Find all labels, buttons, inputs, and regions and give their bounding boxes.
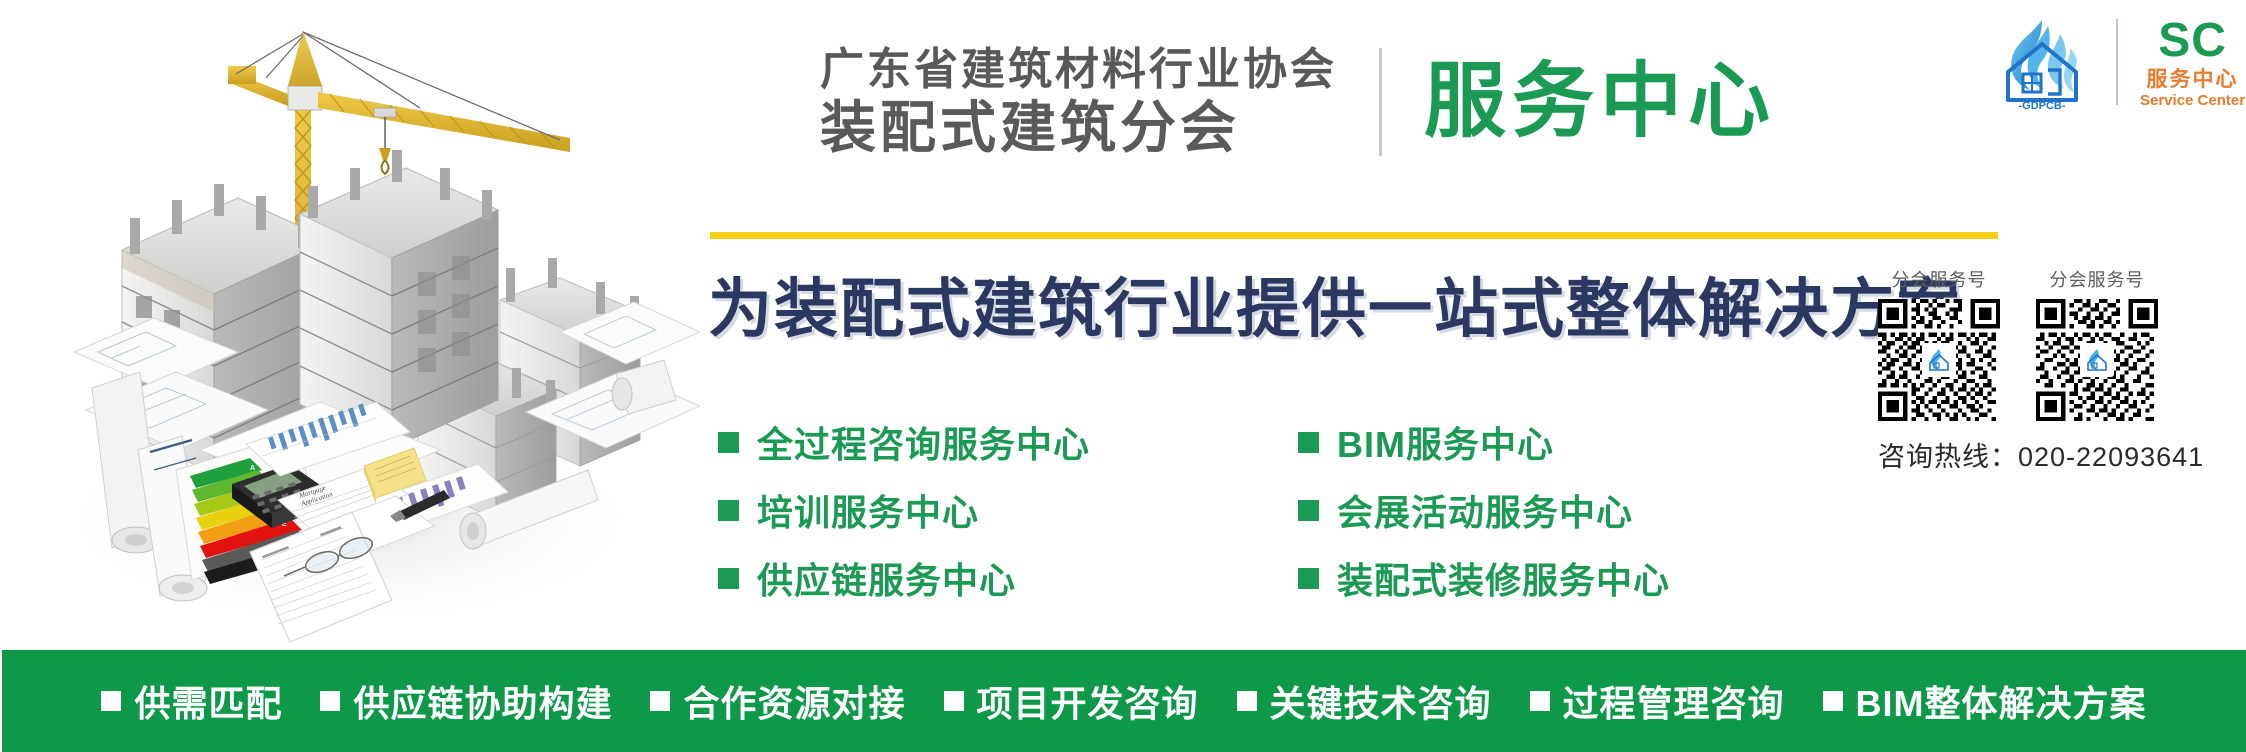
gdpcb-house-flame-logo-icon: -GDPCB-	[1990, 14, 2094, 110]
gdpcb-wordmark: -GDPCB-	[2018, 100, 2065, 110]
square-bullet-icon	[1530, 691, 1550, 711]
service-item-label: 培训服务中心	[757, 484, 979, 536]
square-bullet-icon	[718, 432, 739, 453]
qr-code-row: 分会服务号	[1878, 266, 2218, 421]
footer-item-label: 供应链协助构建	[353, 675, 612, 727]
promo-banner: AB CD EF GH	[0, 0, 2246, 752]
sc-letters: SC	[2158, 17, 2227, 65]
square-bullet-icon	[1823, 691, 1843, 711]
footer-item-label: 关键技术咨询	[1270, 675, 1492, 727]
footer-item[interactable]: 合作资源对接	[650, 675, 905, 727]
footer-item[interactable]: BIM整体解决方案	[1823, 675, 2147, 727]
qr-center-logo-icon	[2080, 343, 2114, 377]
service-center-heading: 服务中心	[1424, 61, 1776, 143]
footer-item-label: 过程管理咨询	[1563, 675, 1785, 727]
association-name: 广东省建筑材料行业协会	[820, 48, 1337, 92]
footer-item[interactable]: 项目开发咨询	[944, 675, 1199, 727]
service-center-list: 全过程咨询服务中心 培训服务中心 供应链服务中心 BIM服务中心 会展活动服务中…	[718, 408, 1718, 612]
square-bullet-icon	[101, 691, 121, 711]
footer-item[interactable]: 过程管理咨询	[1530, 675, 1785, 727]
square-bullet-icon	[1298, 568, 1319, 589]
square-bullet-icon	[1237, 691, 1257, 711]
square-bullet-icon	[718, 568, 739, 589]
square-bullet-icon	[320, 691, 340, 711]
service-item[interactable]: 培训服务中心	[718, 476, 1298, 544]
title-vertical-divider	[1379, 48, 1382, 156]
sc-english-label: Service Center	[2140, 93, 2245, 108]
qr-code-image-1[interactable]	[1878, 299, 2000, 421]
square-bullet-icon	[650, 691, 670, 711]
gold-divider-rule	[710, 232, 1998, 239]
footer-services-bar: 供需匹配 供应链协助构建 合作资源对接 项目开发咨询 关键技术咨询 过程管理咨询	[2, 650, 2246, 752]
service-item[interactable]: BIM服务中心	[1298, 408, 1718, 476]
qr-contact-block: 分会服务号	[1878, 266, 2218, 474]
logo-vertical-divider	[2116, 19, 2118, 105]
logo-lockup: -GDPCB- SC 服务中心 Service Center	[1990, 14, 2245, 110]
service-item[interactable]: 全过程咨询服务中心	[718, 408, 1298, 476]
service-column-left: 全过程咨询服务中心 培训服务中心 供应链服务中心	[718, 408, 1298, 612]
footer-item[interactable]: 供应链协助构建	[320, 675, 612, 727]
qr-code-cell[interactable]: 分会服务号	[1878, 266, 2000, 421]
service-item[interactable]: 装配式装修服务中心	[1298, 544, 1718, 612]
service-column-right: BIM服务中心 会展活动服务中心 装配式装修服务中心	[1298, 408, 1718, 612]
service-item-label: BIM服务中心	[1337, 416, 1554, 468]
qr-caption: 分会服务号	[1892, 266, 1987, 292]
service-item[interactable]: 供应链服务中心	[718, 544, 1298, 612]
square-bullet-icon	[718, 500, 739, 521]
footer-item[interactable]: 供需匹配	[101, 675, 282, 727]
association-title-stack: 广东省建筑材料行业协会 装配式建筑分会	[820, 48, 1337, 156]
qr-code-image-2[interactable]	[2036, 299, 2158, 421]
footer-item[interactable]: 关键技术咨询	[1237, 675, 1492, 727]
qr-caption: 分会服务号	[2050, 266, 2145, 292]
service-item[interactable]: 会展活动服务中心	[1298, 476, 1718, 544]
branch-name: 装配式建筑分会	[820, 100, 1337, 156]
svg-text:A: A	[250, 465, 255, 472]
footer-item-label: BIM整体解决方案	[1856, 675, 2147, 727]
footer-item-label: 合作资源对接	[683, 675, 905, 727]
square-bullet-icon	[944, 691, 964, 711]
construction-illustration: AB CD EF GH	[0, 0, 700, 650]
service-item-label: 全过程咨询服务中心	[757, 416, 1090, 468]
footer-item-label: 供需匹配	[134, 675, 282, 727]
qr-center-logo-icon	[1922, 343, 1956, 377]
hotline-text: 咨询热线：020-22093641	[1878, 435, 2218, 474]
footer-item-list: 供需匹配 供应链协助构建 合作资源对接 项目开发咨询 关键技术咨询 过程管理咨询	[82, 675, 2165, 727]
square-bullet-icon	[1298, 500, 1319, 521]
service-item-label: 会展活动服务中心	[1337, 484, 1633, 536]
footer-item-label: 项目开发咨询	[977, 675, 1199, 727]
qr-code-cell[interactable]: 分会服务号	[2036, 266, 2158, 421]
main-slogan: 为装配式建筑行业提供一站式整体解决方案	[708, 258, 1962, 350]
sc-chinese-label: 服务中心	[2147, 69, 2239, 90]
service-item-label: 供应链服务中心	[757, 552, 1016, 604]
sc-service-center-mark: SC 服务中心 Service Center	[2140, 17, 2245, 108]
service-item-label: 装配式装修服务中心	[1337, 552, 1670, 604]
header-title-block: 广东省建筑材料行业协会 装配式建筑分会 服务中心	[820, 48, 1776, 156]
square-bullet-icon	[1298, 432, 1319, 453]
